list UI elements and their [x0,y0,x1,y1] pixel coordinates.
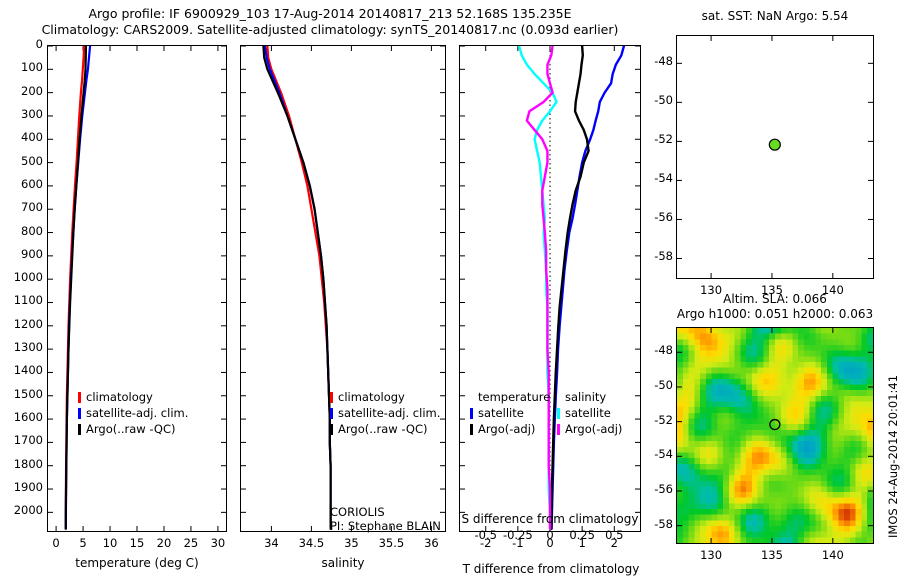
axis-tick-label: 1400 [14,363,43,377]
axis-tick-label: 1100 [14,293,43,307]
legend-swatch-temperature-argo [470,424,473,435]
sst-map-panel [676,35,874,279]
axis-tick-label: 0 [546,536,553,550]
sst-map-plot-area [677,36,873,278]
difference-profile-panel [459,45,641,532]
sst-panel-title: sat. SST: NaN Argo: 5.54 [660,9,890,23]
legend-label: satellite-adj. clim. [338,405,440,421]
legend-swatch-salinity-argo [557,424,560,435]
legend-label: satellite [478,405,524,421]
axis-tick-label: 900 [21,247,43,261]
salinity-axis-title: salinity [240,556,446,570]
axis-tick-label: 135 [761,548,783,562]
legend-label: climatology [86,389,153,405]
axis-tick-label: 1600 [14,410,43,424]
legend-swatch-argo [330,424,333,435]
axis-tick-label: 0 [36,37,43,51]
legend-swatch-climatology [78,392,81,403]
axis-tick-label: -52 [654,132,673,146]
sla-map-panel [676,327,874,544]
axis-tick-label: 25 [184,536,199,550]
principal-investigator: PI: Stephane BLAIN [330,519,441,533]
legend-swatch-salinity-satellite [557,408,560,419]
axis-tick-label: 0 [52,536,59,550]
axis-tick-label: 700 [21,200,43,214]
sla-map-plot-area [677,328,873,543]
axis-tick-label: 1900 [14,480,43,494]
data-centre-credit: CORIOLIS PI: Stephane BLAIN [330,505,441,533]
legend-label: climatology [338,389,405,405]
axis-tick-label: -56 [654,210,673,224]
legend-label: satellite [565,405,611,421]
axis-tick-label: -58 [654,249,673,263]
legend-swatch-argo [78,424,81,435]
axis-tick-label: -50 [654,378,673,392]
axis-tick-label: -48 [654,343,673,357]
legend-label: Argo(-adj) [565,421,622,437]
axis-tick-label: -1 [512,536,523,550]
legend-item: climatology [78,389,188,405]
legend-heading: temperature [470,389,550,405]
axis-tick-label: 10 [103,536,118,550]
difference-temperature-axis-title: T difference from climatology [456,562,646,576]
title-line-2: Climatology: CARS2009. Satellite-adjuste… [0,22,660,38]
legend-item: climatology [330,389,440,405]
axis-tick-label: 1700 [14,433,43,447]
axis-tick-label: -54 [654,171,673,185]
axis-tick-label: 30 [211,536,226,550]
legend-label: Argo(..raw -QC) [338,421,428,437]
axis-tick-label: -2 [480,536,491,550]
legend-item: satellite-adj. clim. [78,405,188,421]
axis-tick-label: -56 [654,482,673,496]
axis-tick-label: 35.5 [379,536,405,550]
axis-tick-label: 600 [21,177,43,191]
axis-tick-label: 200 [21,84,43,98]
axis-tick-label: 1000 [14,270,43,284]
legend-item: Argo(-adj) [470,421,550,437]
temperature-plot-area [48,46,226,531]
legend-item: Argo(-adj) [557,421,622,437]
data-centre-name: CORIOLIS [330,505,441,519]
legend-label: Argo(..raw -QC) [86,421,176,437]
legend-swatch-satellite-adj [78,408,81,419]
temperature-legend: climatology satellite-adj. clim. Argo(..… [78,389,188,437]
axis-tick-label: 140 [822,548,844,562]
axis-tick-label: 2000 [14,503,43,517]
sla-panel-title-line-1: Altim. SLA: 0.066 [660,292,890,306]
salinity-legend: climatology satellite-adj. clim. Argo(..… [330,389,440,437]
axis-tick-label: 400 [21,130,43,144]
difference-legend-temperature: temperature satellite Argo(-adj) [470,389,550,437]
axis-tick-label: 2 [611,536,618,550]
legend-item: satellite [470,405,550,421]
axis-tick-label: 34.5 [299,536,325,550]
sla-panel-title-line-2: Argo h1000: 0.051 h2000: 0.063 [655,307,895,321]
axis-tick-label: 1 [578,536,585,550]
legend-heading: salinity [557,389,622,405]
axis-tick-label: 130 [700,548,722,562]
axis-tick-label: 1800 [14,457,43,471]
temperature-profile-panel [47,45,227,532]
axis-tick-label: 100 [21,60,43,74]
difference-salinity-axis-title: S difference from climatology [459,512,641,526]
legend-item: Argo(..raw -QC) [330,421,440,437]
salinity-plot-area [241,46,445,531]
axis-tick-label: 34 [264,536,279,550]
axis-tick-label: -52 [654,413,673,427]
axis-tick-label: -48 [654,54,673,68]
legend-swatch-temperature-satellite [470,408,473,419]
title-line-1: Argo profile: IF 6900929_103 17-Aug-2014… [0,6,660,22]
legend-swatch-climatology [330,392,333,403]
axis-tick-label: 800 [21,224,43,238]
axis-tick-label: -50 [654,93,673,107]
page-title: Argo profile: IF 6900929_103 17-Aug-2014… [0,6,660,38]
imos-timestamp-stamp: IMOS 24-Aug-2014 20:01:41 [886,375,900,538]
axis-tick-label: 1500 [14,387,43,401]
axis-tick-label: 15 [130,536,145,550]
temperature-axis-title: temperature (deg C) [47,556,227,570]
axis-tick-label: 5 [79,536,86,550]
difference-plot-area [460,46,640,531]
axis-tick-label: 36 [424,536,439,550]
legend-item: satellite [557,405,622,421]
axis-tick-label: 1300 [14,340,43,354]
axis-tick-label: 20 [157,536,172,550]
axis-tick-label: 35 [344,536,359,550]
axis-tick-label: 300 [21,107,43,121]
legend-item: satellite-adj. clim. [330,405,440,421]
axis-tick-label: -54 [654,447,673,461]
axis-tick-label: 500 [21,154,43,168]
axis-tick-label: -58 [654,517,673,531]
difference-legend-salinity: salinity satellite Argo(-adj) [557,389,622,437]
legend-label: satellite-adj. clim. [86,405,188,421]
legend-swatch-satellite-adj [330,408,333,419]
legend-label: Argo(-adj) [478,421,535,437]
salinity-profile-panel [240,45,446,532]
legend-item: Argo(..raw -QC) [78,421,188,437]
axis-tick-label: 1200 [14,317,43,331]
